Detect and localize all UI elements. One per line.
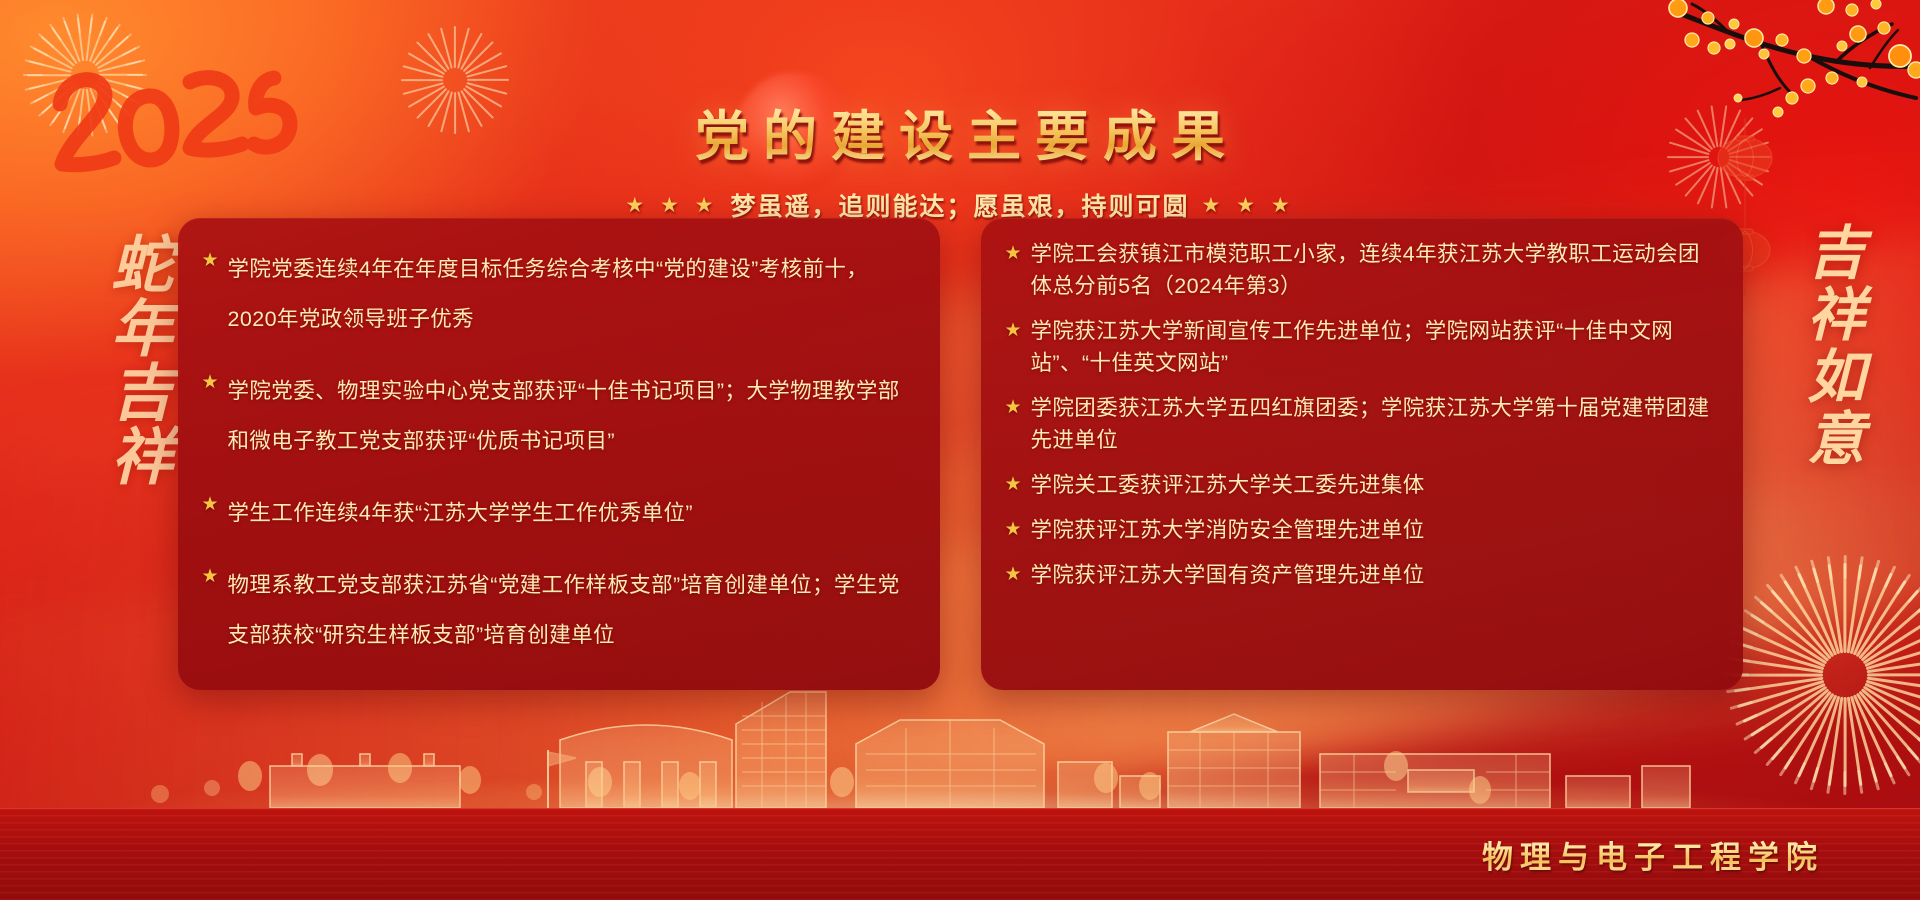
- poster-canvas: 蛇年吉祥 吉祥如意 党的建设主要成果 ★ ★ ★ 梦虽遥，追则能达；愿虽艰，持则…: [0, 0, 1920, 900]
- list-item-text: 学院团委获江苏大学五四红旗团委；学院获江苏大学第十届党建带团建先进单位: [1031, 392, 1717, 456]
- achievements-panels: ★ 学院党委连续4年在年度目标任务综合考核中“党的建设”考核前十，2020年党政…: [0, 218, 1920, 690]
- footer-band: 物理与电子工程学院: [0, 808, 1920, 900]
- bullet-star-icon: ★: [202, 560, 228, 594]
- list-item-text: 学生工作连续4年获“江苏大学学生工作优秀单位”: [228, 488, 693, 538]
- bullet-star-icon: ★: [202, 366, 228, 400]
- list-item: ★ 学院团委获江苏大学五四红旗团委；学院获江苏大学第十届党建带团建先进单位: [1005, 392, 1717, 456]
- list-item: ★ 学院党委、物理实验中心党支部获评“十佳书记项目”；大学物理教学部和微电子教工…: [202, 366, 914, 466]
- poster-header: 党的建设主要成果 ★ ★ ★ 梦虽遥，追则能达；愿虽艰，持则可圆 ★ ★ ★: [0, 92, 1920, 223]
- list-item-text: 学院获评江苏大学国有资产管理先进单位: [1031, 559, 1425, 591]
- list-item-text: 学院获江苏大学新闻宣传工作先进单位；学院网站获评“十佳中文网站”、“十佳英文网站…: [1031, 315, 1717, 379]
- list-item-text: 物理系教工党支部获江苏省“党建工作样板支部”培育创建单位；学生党支部获校“研究生…: [228, 560, 914, 660]
- list-item-text: 学院工会获镇江市模范职工小家，连续4年获江苏大学教职工运动会团体总分前5名（20…: [1031, 238, 1717, 302]
- achievements-panel-left: ★ 学院党委连续4年在年度目标任务综合考核中“党的建设”考核前十，2020年党政…: [178, 218, 940, 690]
- bullet-star-icon: ★: [1005, 238, 1031, 270]
- bullet-star-icon: ★: [1005, 559, 1031, 591]
- bullet-star-icon: ★: [1005, 315, 1031, 347]
- list-item-text: 学院党委、物理实验中心党支部获评“十佳书记项目”；大学物理教学部和微电子教工党支…: [228, 366, 914, 466]
- bullet-star-icon: ★: [202, 488, 228, 522]
- footer-title: 物理与电子工程学院: [1482, 832, 1824, 877]
- list-item: ★ 学院关工委获评江苏大学关工委先进集体: [1005, 469, 1717, 501]
- list-item: ★ 学院获江苏大学新闻宣传工作先进单位；学院网站获评“十佳中文网站”、“十佳英文…: [1005, 315, 1717, 379]
- bullet-star-icon: ★: [1005, 469, 1031, 501]
- list-item: ★ 物理系教工党支部获江苏省“党建工作样板支部”培育创建单位；学生党支部获校“研…: [202, 560, 914, 660]
- achievements-panel-right: ★ 学院工会获镇江市模范职工小家，连续4年获江苏大学教职工运动会团体总分前5名（…: [981, 218, 1743, 690]
- bullet-star-icon: ★: [202, 244, 228, 278]
- list-item-text: 学院党委连续4年在年度目标任务综合考核中“党的建设”考核前十，2020年党政领导…: [228, 244, 914, 344]
- bullet-star-icon: ★: [1005, 392, 1031, 424]
- star-decoration-left: ★ ★ ★: [625, 193, 718, 218]
- list-item-text: 学院关工委获评江苏大学关工委先进集体: [1031, 469, 1425, 501]
- list-item: ★ 学院获评江苏大学消防安全管理先进单位: [1005, 514, 1717, 546]
- star-decoration-right: ★ ★ ★: [1202, 193, 1295, 218]
- list-item: ★ 学院工会获镇江市模范职工小家，连续4年获江苏大学教职工运动会团体总分前5名（…: [1005, 238, 1717, 302]
- list-item: ★ 学院党委连续4年在年度目标任务综合考核中“党的建设”考核前十，2020年党政…: [202, 244, 914, 344]
- list-item: ★ 学生工作连续4年获“江苏大学学生工作优秀单位”: [202, 488, 914, 538]
- list-item: ★ 学院获评江苏大学国有资产管理先进单位: [1005, 559, 1717, 591]
- list-item-text: 学院获评江苏大学消防安全管理先进单位: [1031, 514, 1425, 546]
- bullet-star-icon: ★: [1005, 514, 1031, 546]
- page-title: 党的建设主要成果: [0, 92, 1920, 171]
